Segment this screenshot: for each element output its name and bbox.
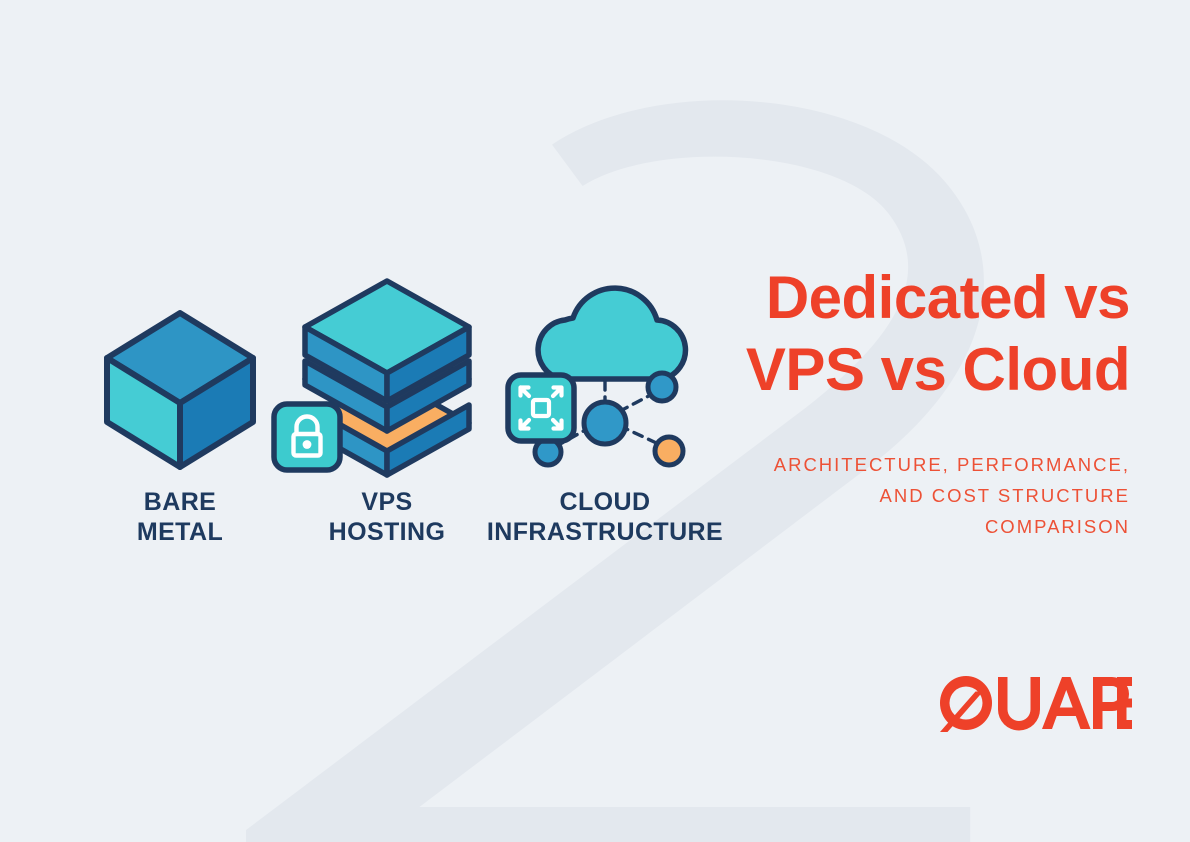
subtitle-line-1: ARCHITECTURE, PERFORMANCE, bbox=[610, 449, 1130, 480]
page-title: Dedicated vs VPS vs Cloud bbox=[610, 262, 1130, 406]
headline-line-2: VPS vs Cloud bbox=[610, 334, 1130, 406]
logo-letter-u bbox=[998, 677, 1040, 731]
headline-block: Dedicated vs VPS vs Cloud ARCHITECTURE, … bbox=[610, 262, 1130, 542]
logo-letter-a bbox=[1042, 677, 1091, 729]
lock-badge bbox=[269, 399, 345, 475]
icon-label-bare-metal: BARE METAL bbox=[70, 487, 290, 547]
icon-label-line2: METAL bbox=[70, 517, 290, 547]
logo-letter-e bbox=[1117, 677, 1132, 729]
subtitle-line-2: AND COST STRUCTURE bbox=[610, 480, 1130, 511]
icon-column-bare-metal: BARE METAL bbox=[70, 255, 290, 565]
quape-logo bbox=[936, 672, 1132, 734]
isometric-cube-icon bbox=[70, 255, 290, 480]
expand-badge bbox=[508, 375, 574, 441]
icon-label-line1: VPS bbox=[361, 488, 412, 516]
subtitle-line-3: COMPARISON bbox=[610, 511, 1130, 542]
page-subtitle: ARCHITECTURE, PERFORMANCE, AND COST STRU… bbox=[610, 449, 1130, 542]
icon-label-line1: BARE bbox=[144, 488, 216, 516]
infographic-canvas: BARE METAL bbox=[0, 0, 1190, 842]
headline-line-1: Dedicated vs bbox=[610, 262, 1130, 334]
